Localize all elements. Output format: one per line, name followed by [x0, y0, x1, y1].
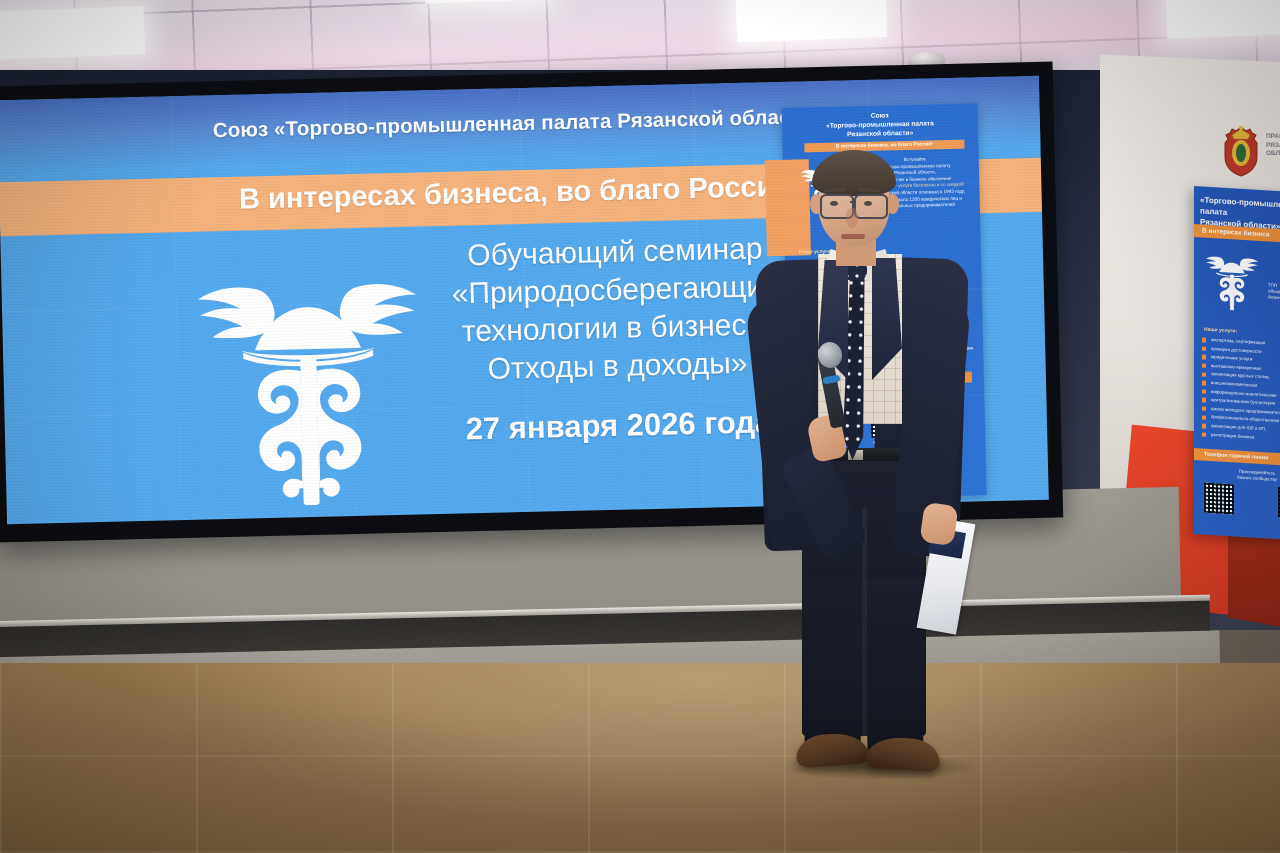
poster-title: Союз «Торгово-промышленная палата Рязанс… [792, 109, 969, 140]
conference-hall-photo: Союз «Торгово-промышленная палата Рязанс… [0, 0, 1280, 853]
leg-left [805, 578, 864, 747]
glasses-bridge [850, 201, 856, 203]
rollup-hotline: Телефон горячей линии [1194, 448, 1280, 467]
rollup-qr-row [1204, 483, 1280, 519]
ceiling-panel-light [735, 0, 887, 42]
coat-text-line-2: РЯЗАНСКОЙ [1266, 142, 1280, 151]
floor-reflection [0, 663, 1280, 853]
coat-text-line-3: ОБЛАСТИ [1266, 150, 1280, 159]
hand-right-holding-folder [919, 502, 958, 546]
glasses-lens-right [854, 194, 888, 219]
rollup-caduceus-icon [1202, 244, 1262, 314]
tiled-floor [0, 663, 1280, 853]
rollup-body-line-3: бизнес [1268, 294, 1280, 303]
nose [846, 208, 858, 228]
ryazan-oblast-coat-of-arms-icon [1218, 123, 1264, 179]
speaker-person [740, 148, 1000, 796]
leg-right [865, 578, 924, 751]
mouth [841, 234, 865, 239]
ceiling-panel-light [0, 6, 145, 60]
coat-of-arms-text: ПРАВИТЕЛЬСТВО РЯЗАНСКОЙ ОБЛАСТИ [1266, 133, 1280, 159]
rollup-banner: «Торгово-промышленная палата Рязанской о… [1194, 186, 1280, 541]
qr-code-icon [1204, 483, 1234, 515]
rollup-services-title: Наши услуги: [1204, 327, 1237, 335]
ceiling-panel-light [1165, 0, 1280, 39]
list-item: регистрация бизнеса [1202, 431, 1280, 444]
rollup-body: ТПП объединяет бизнес [1268, 282, 1280, 303]
caduceus-emblem [181, 242, 437, 510]
rollup-services-list: экспертиза, сертификация проверка достов… [1202, 336, 1280, 446]
coat-text-line-1: ПРАВИТЕЛЬСТВО [1266, 133, 1280, 142]
